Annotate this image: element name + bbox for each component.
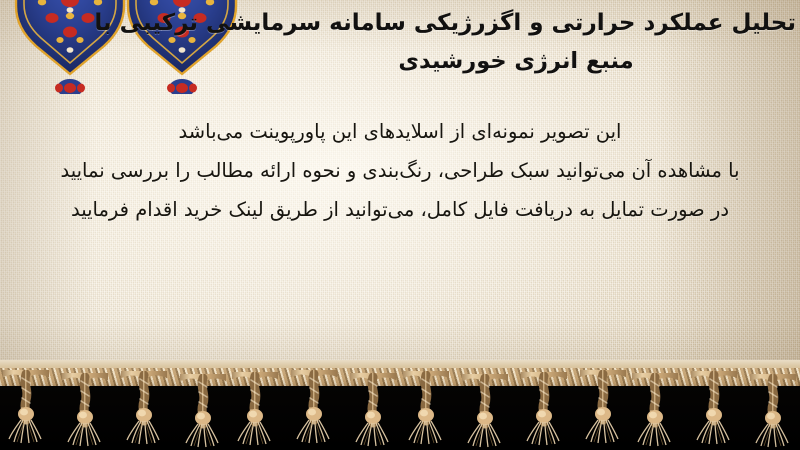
fringe-tassel [691,371,737,445]
fringe-tassel [62,373,108,447]
fringe-tassel [750,374,796,448]
fringe-tassel [521,372,567,446]
fringe-tassel [580,370,626,444]
fringe-tassel [121,371,167,445]
fringe-tassel [632,373,678,447]
fringe-tassel [180,374,226,448]
fringe-tassel [462,374,508,448]
slide-body-line-2: با مشاهده آن می‌توانید سبک طراحی، رنگ‌بن… [20,151,780,190]
slide-title-line-2: منبع انرژی خورشیدی [236,42,796,80]
slide-body-line-3: در صورت تمایل به دریافت فایل کامل، می‌تو… [20,190,780,229]
fringe-tassel [350,373,396,447]
slide-body-line-1: این تصویر نمونه‌ای از اسلایدهای این پاور… [20,112,780,151]
slide-body: این تصویر نمونه‌ای از اسلایدهای این پاور… [20,112,780,229]
fringe-tassel [232,372,278,446]
slide-title: تحلیل عملکرد حرارتی و اگزرژیکی سامانه سر… [236,4,796,80]
fringe-tassel [291,370,337,444]
slide-canvas: تحلیل عملکرد حرارتی و اگزرژیکی سامانه سر… [0,0,800,450]
slide-title-line-1: تحلیل عملکرد حرارتی و اگزرژیکی سامانه سر… [236,4,796,42]
fringe-tassel-row [0,360,800,450]
carpet-fringe-band [0,360,800,450]
fringe-tassel [3,370,49,444]
fringe-tassel [403,371,449,445]
